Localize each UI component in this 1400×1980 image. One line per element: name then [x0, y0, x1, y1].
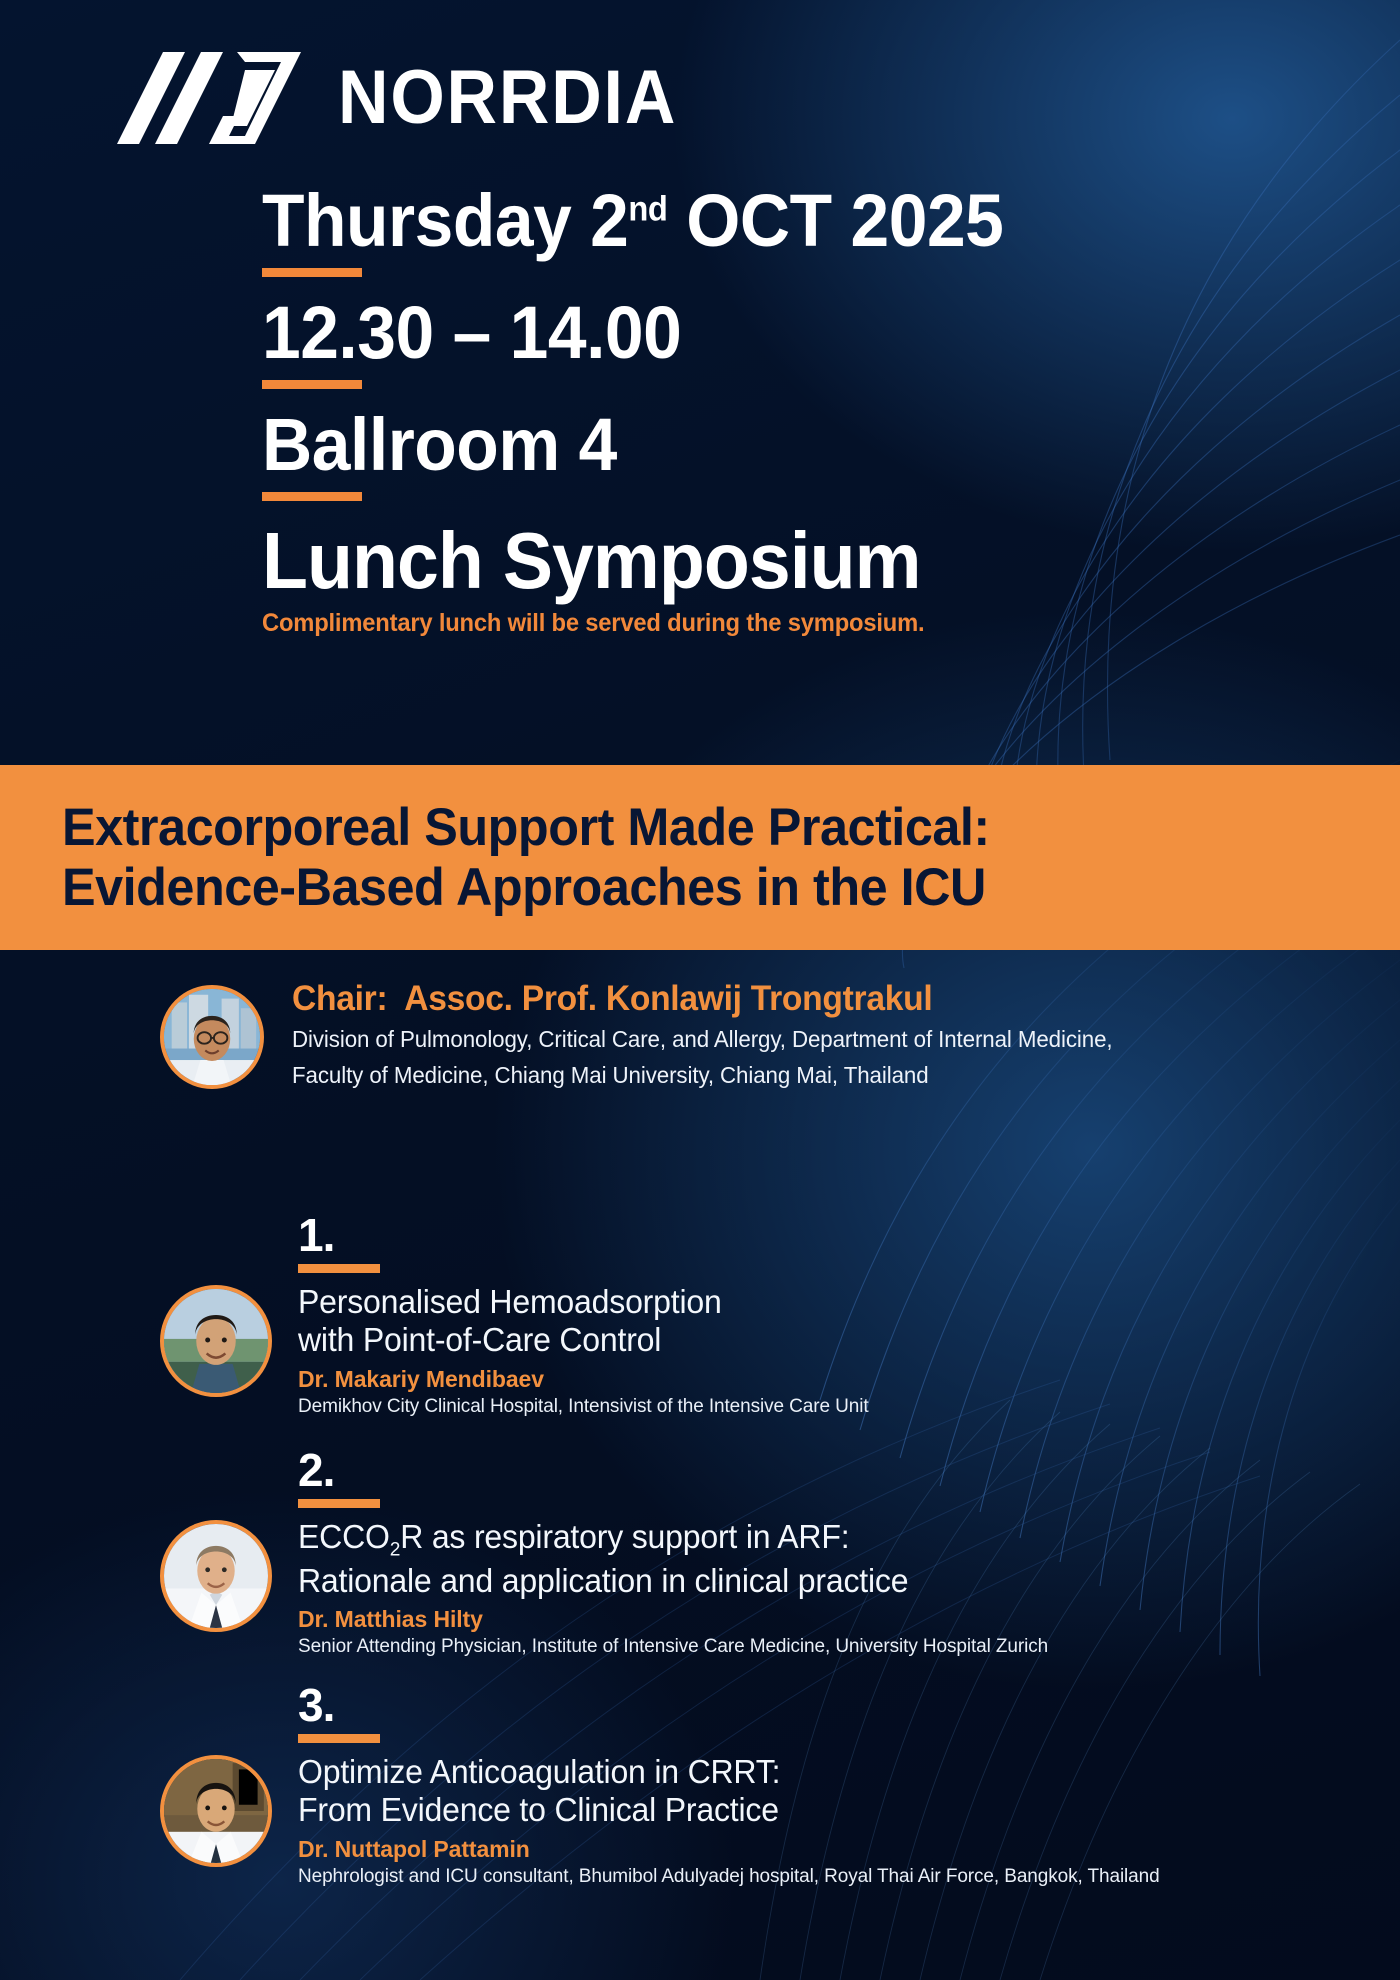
chair-affiliation-line-1: Division of Pulmonology, Critical Care, …	[292, 1024, 1112, 1055]
talk-3-title-line-1: Optimize Anticoagulation in CRRT:	[298, 1753, 1134, 1791]
talk-1-number: 1.	[298, 1215, 869, 1256]
ecco2r-subscript: 2	[390, 1539, 400, 1561]
speaker-2-portrait-image	[164, 1524, 268, 1628]
talk-2-underline-accent	[298, 1499, 380, 1508]
talk-3-speaker-affiliation: Nephrologist and ICU consultant, Bhumibo…	[298, 1866, 1160, 1888]
event-type-title: Lunch Symposium	[262, 521, 1108, 601]
event-room: Ballroom 4	[262, 409, 1108, 480]
session-title-line-1: Extracorporeal Support Made Practical:	[62, 798, 1333, 857]
speaker-2-avatar	[160, 1520, 272, 1632]
talk-3-body: 3. Optimize Anticoagulation in CRRT: Fro…	[298, 1685, 1160, 1888]
room-underline-accent	[262, 492, 362, 501]
talk-3-number: 3.	[298, 1685, 1160, 1726]
time-underline-accent	[262, 380, 362, 389]
talk-1-body: 1. Personalised Hemoadsorption with Poin…	[298, 1215, 869, 1418]
chair-block: Chair: Assoc. Prof. Konlawij Trongtrakul…	[160, 975, 1340, 1091]
speaker-1-portrait-image	[164, 1289, 268, 1393]
talk-1-title-line-1: Personalised Hemoadsorption	[298, 1283, 851, 1321]
lunch-note: Complimentary lunch will be served durin…	[262, 609, 1117, 638]
event-time: 12.30 – 14.00	[262, 297, 1108, 368]
brand-wordmark: NORRDIA	[338, 60, 677, 136]
symposium-poster: NORRDIA Thursday 2nd OCT 2025 12.30 – 14…	[0, 0, 1400, 1980]
talk-2-speaker-affiliation: Senior Attending Physician, Institute of…	[298, 1636, 1048, 1658]
speaker-3-avatar	[160, 1755, 272, 1867]
talk-2-number: 2.	[298, 1450, 1048, 1491]
talk-item-2: 2. ECCO2R as respiratory support in ARF:…	[160, 1450, 1360, 1658]
session-title-banner: Extracorporeal Support Made Practical: E…	[0, 765, 1400, 950]
talk-1-underline-accent	[298, 1264, 380, 1273]
event-date: Thursday 2nd OCT 2025	[262, 185, 1108, 256]
chair-text: Chair: Assoc. Prof. Konlawij Trongtrakul…	[292, 975, 1138, 1091]
chair-portrait-image	[164, 989, 260, 1085]
talk-item-1: 1. Personalised Hemoadsorption with Poin…	[160, 1215, 1360, 1418]
date-ordinal: nd	[628, 190, 667, 228]
talk-2-body: 2. ECCO2R as respiratory support in ARF:…	[298, 1450, 1048, 1658]
chair-affiliation-line-2: Faculty of Medicine, Chiang Mai Universi…	[292, 1060, 1112, 1091]
norrdia-mark-icon	[105, 48, 320, 148]
talk-2-title-line-2: Rationale and application in clinical pr…	[298, 1562, 1026, 1600]
brand-logo: NORRDIA	[105, 48, 707, 148]
talk-1-title-line-2: with Point-of-Care Control	[298, 1321, 851, 1359]
speaker-3-portrait-image	[164, 1759, 268, 1863]
talk-3-underline-accent	[298, 1734, 380, 1743]
talk-item-3: 3. Optimize Anticoagulation in CRRT: Fro…	[160, 1685, 1360, 1888]
session-title-line-2: Evidence-Based Approaches in the ICU	[62, 858, 1333, 917]
date-underline-accent	[262, 268, 362, 277]
chair-avatar	[160, 985, 264, 1089]
talk-1-speaker-name: Dr. Makariy Mendibaev	[298, 1366, 869, 1393]
hero-block: Thursday 2nd OCT 2025 12.30 – 14.00 Ball…	[262, 185, 1162, 638]
talk-3-speaker-name: Dr. Nuttapol Pattamin	[298, 1836, 1160, 1863]
talk-1-speaker-affiliation: Demikhov City Clinical Hospital, Intensi…	[298, 1396, 869, 1418]
talk-3-title-line-2: From Evidence to Clinical Practice	[298, 1791, 1134, 1829]
talk-2-speaker-name: Dr. Matthias Hilty	[298, 1606, 1048, 1633]
speaker-1-avatar	[160, 1285, 272, 1397]
talk-2-title-line-1: ECCO2R as respiratory support in ARF:	[298, 1518, 1026, 1561]
chair-name: Chair: Assoc. Prof. Konlawij Trongtrakul	[292, 979, 1104, 1019]
